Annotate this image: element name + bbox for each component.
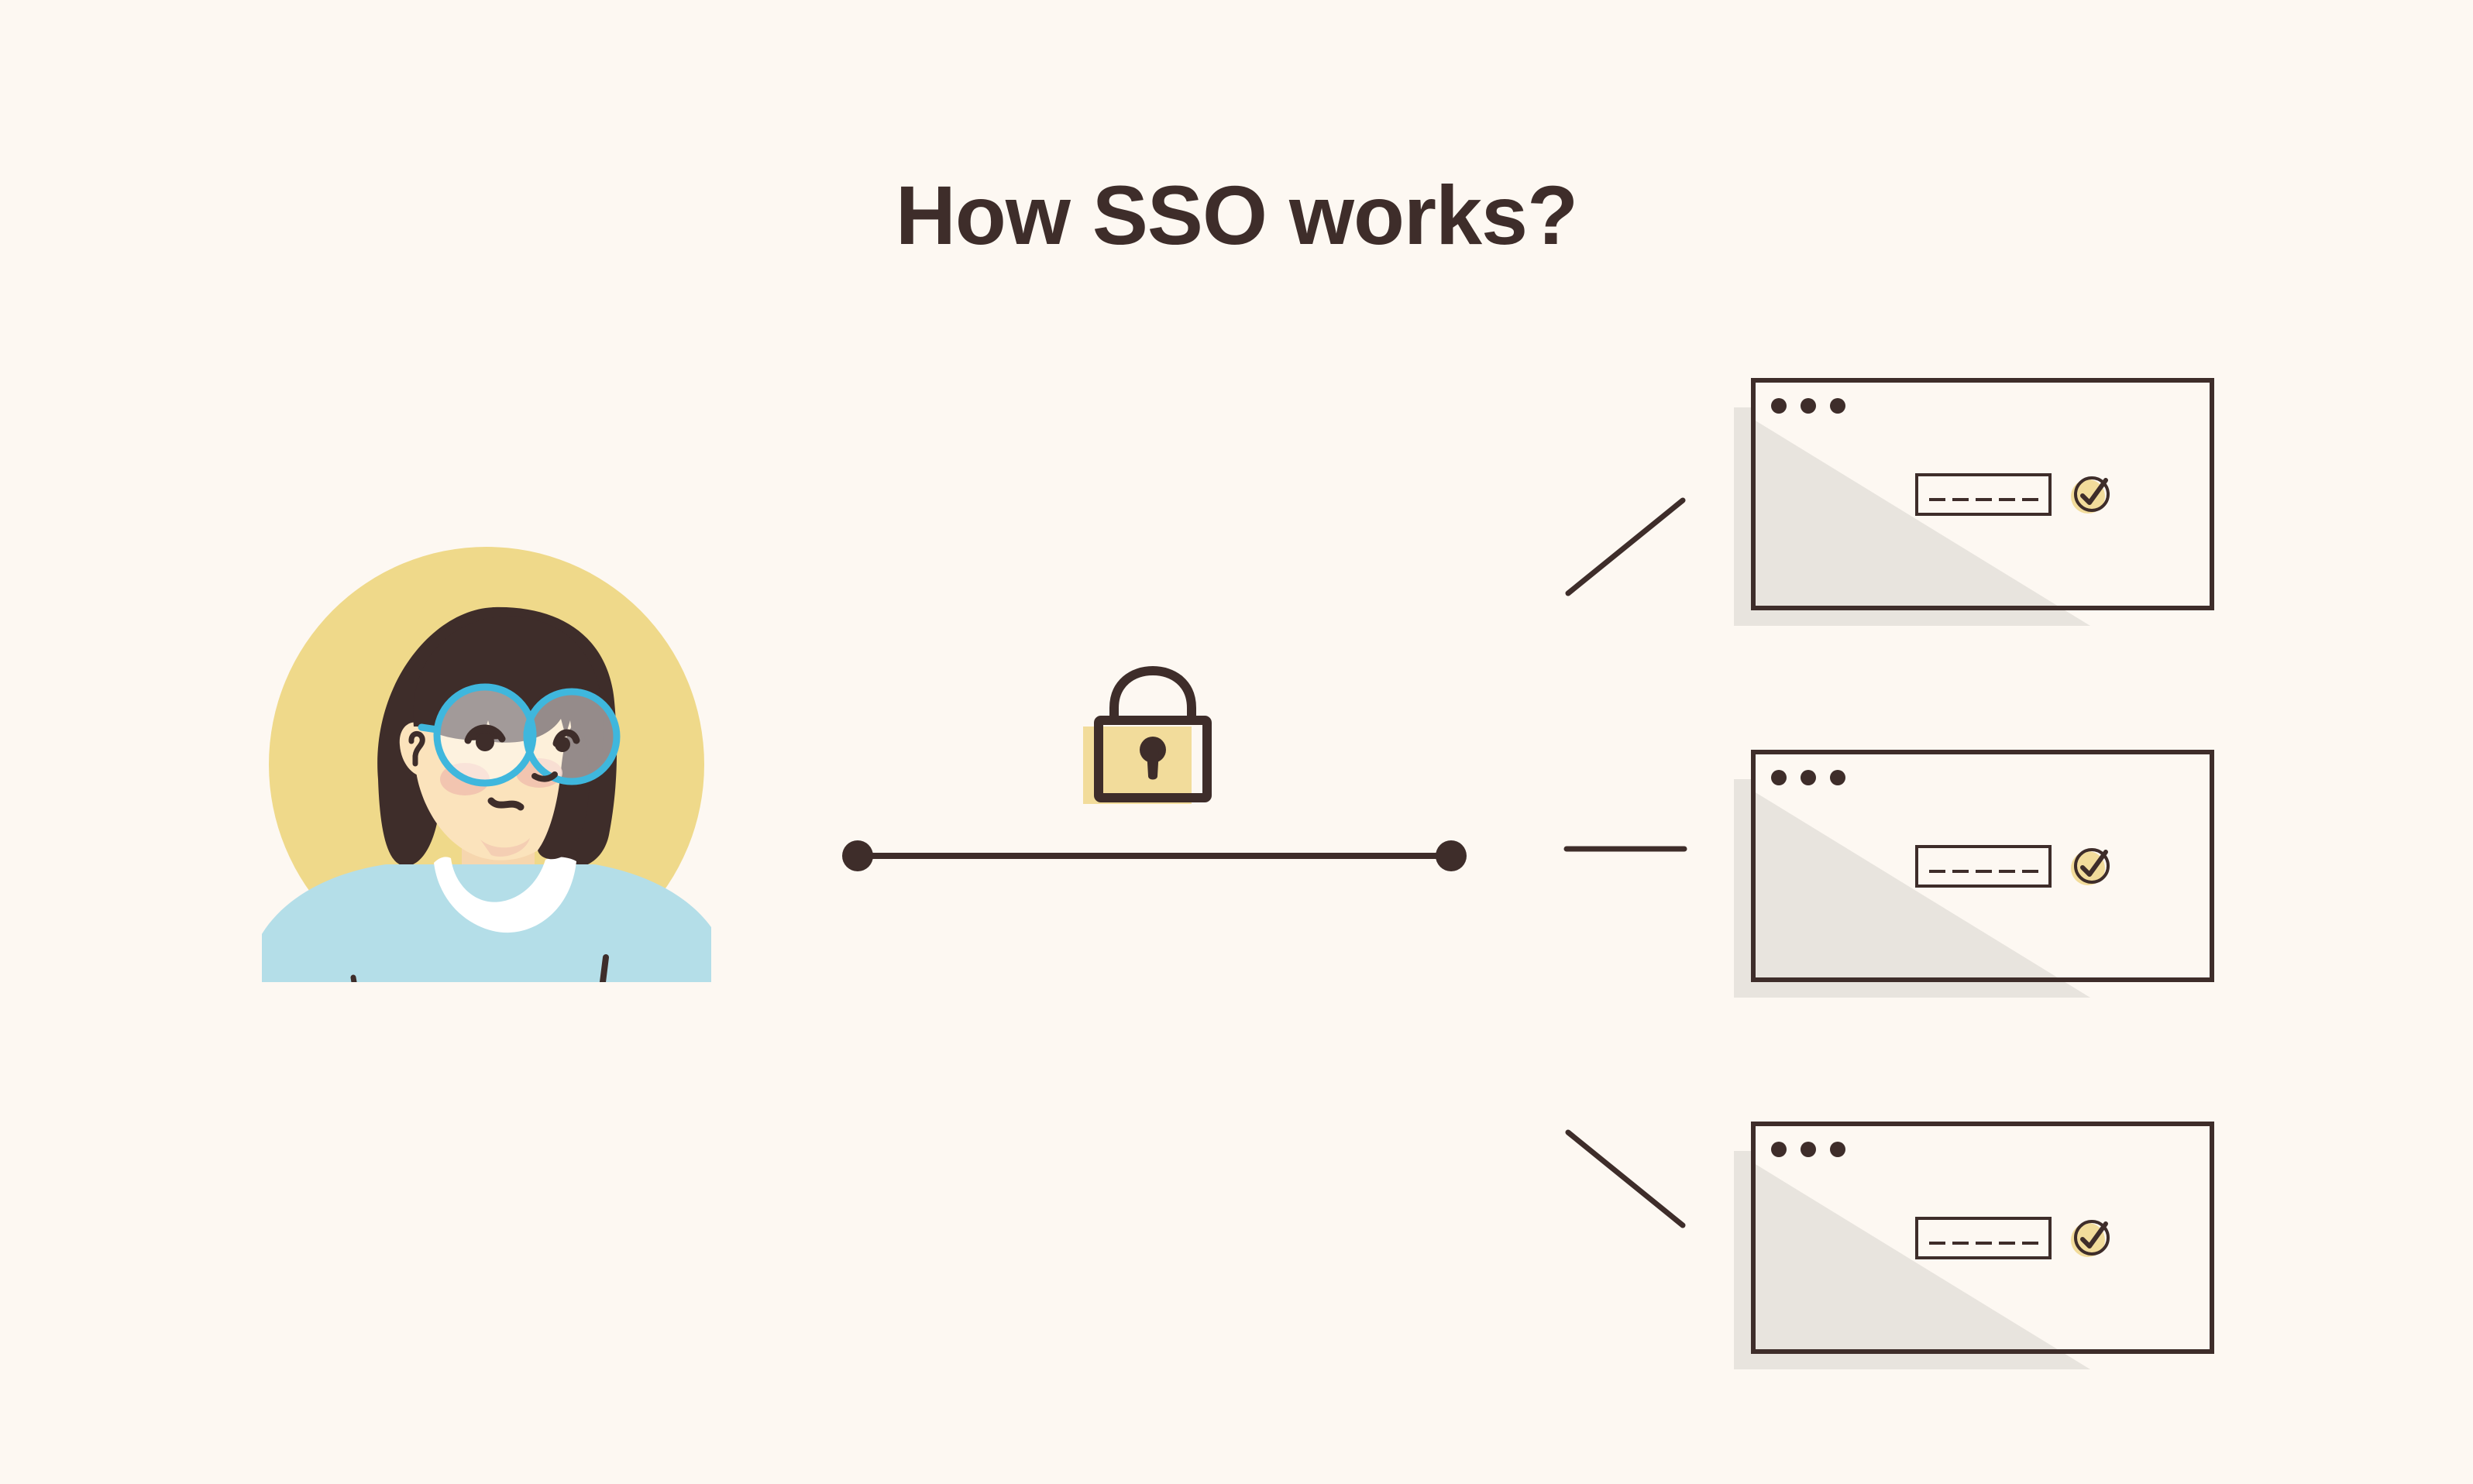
password-mask (1929, 1242, 2038, 1245)
card-body (1751, 1122, 2214, 1354)
branch-connector-top (1565, 496, 1689, 596)
browser-card[interactable] (1734, 378, 2218, 626)
user-avatar (262, 547, 711, 982)
card-body (1751, 750, 2214, 982)
padlock-icon (1077, 666, 1255, 844)
browser-card[interactable] (1734, 750, 2218, 998)
password-mask (1929, 870, 2038, 873)
browser-card[interactable] (1734, 1122, 2218, 1369)
page-title: How SSO works? (0, 167, 2473, 263)
shirt-detail (603, 957, 606, 982)
mouth (491, 801, 521, 807)
check-badge-icon (2069, 1216, 2112, 1259)
password-mask (1929, 498, 2038, 501)
password-field[interactable] (1915, 1217, 2052, 1259)
connector-endpoint-right (1436, 840, 1467, 871)
check-badge-icon (2069, 472, 2112, 516)
card-body (1751, 378, 2214, 610)
branch-connector-bottom (1565, 1128, 1689, 1228)
shirt-detail-2 (353, 977, 354, 982)
branch-connector-middle (1563, 843, 1687, 855)
password-field[interactable] (1915, 473, 2052, 516)
infographic-canvas: How SSO works? (0, 0, 2473, 1484)
connector-endpoint-left (842, 840, 873, 871)
check-badge-icon (2069, 844, 2112, 888)
sso-connector-line (841, 840, 1468, 871)
password-field[interactable] (1915, 845, 2052, 888)
padlock-shackle (1114, 671, 1192, 722)
